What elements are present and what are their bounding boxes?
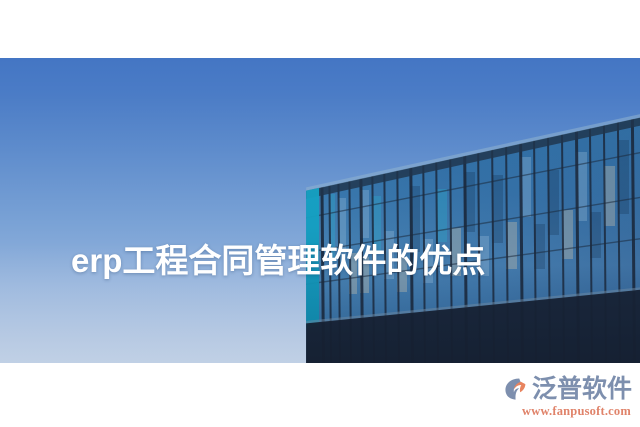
window-mullion bbox=[319, 58, 325, 363]
glass-building-illustration bbox=[300, 58, 640, 363]
logo-primary-row: 泛普软件 bbox=[503, 376, 632, 402]
banner-title: erp工程合同管理软件的优点 bbox=[71, 244, 485, 279]
hero-banner-image: erp工程合同管理软件的优点 bbox=[0, 58, 640, 363]
window-mullion bbox=[327, 58, 332, 363]
page-root: erp工程合同管理软件的优点 泛普软件 www.fanpusoft.com bbox=[0, 0, 640, 427]
fanpu-swoosh-logo-icon bbox=[503, 376, 529, 402]
logo-website-url: www.fanpusoft.com bbox=[522, 404, 631, 419]
brand-logo[interactable]: 泛普软件 www.fanpusoft.com bbox=[503, 376, 632, 419]
logo-brand-name: 泛普软件 bbox=[532, 377, 632, 402]
